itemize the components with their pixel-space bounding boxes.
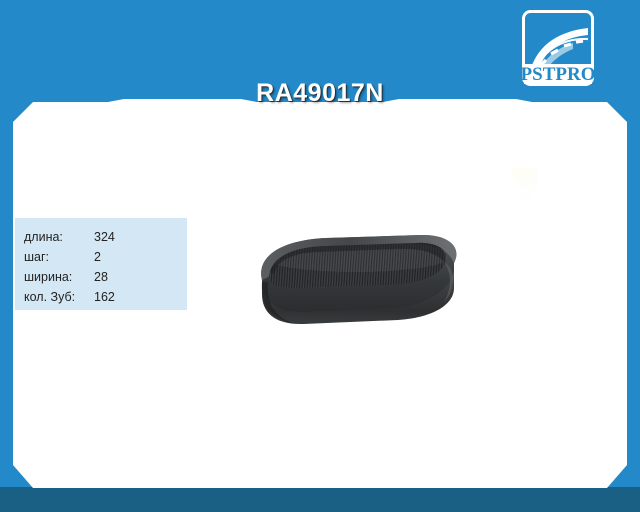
table-row: шаг: 2 xyxy=(24,247,187,267)
spec-value: 324 xyxy=(94,227,115,247)
spec-label: длина: xyxy=(24,227,94,247)
specifications-table: длина: 324 шаг: 2 ширина: 28 кол. Зуб: 1… xyxy=(15,218,187,310)
spec-value: 28 xyxy=(94,267,108,287)
spec-value: 2 xyxy=(94,247,101,267)
spec-value: 162 xyxy=(94,287,115,307)
table-row: ширина: 28 xyxy=(24,267,187,287)
product-image xyxy=(248,232,464,348)
spec-label: шаг: xyxy=(24,247,94,267)
footer-strip xyxy=(0,487,640,512)
table-row: длина: 324 xyxy=(24,227,187,247)
logo-wordmark: PSTPRO xyxy=(521,64,596,85)
product-card-page: RA49017N PSTPRO длина: xyxy=(0,0,640,512)
spec-label: ширина: xyxy=(24,267,94,287)
brand-logo[interactable]: PSTPRO xyxy=(520,8,596,88)
spec-label: кол. Зуб: xyxy=(24,287,94,307)
table-row: кол. Зуб: 162 xyxy=(24,287,187,307)
